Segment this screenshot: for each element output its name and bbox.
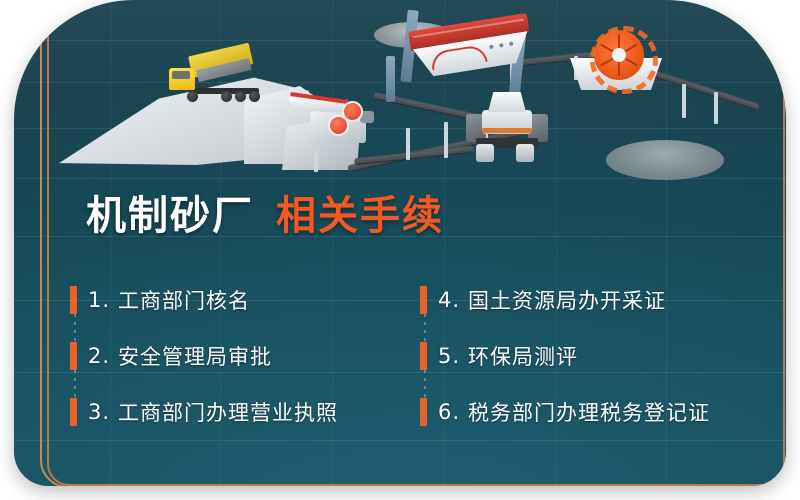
- procedure-column-left: 1. 工商部门核名 2. 安全管理局审批 3. 工商部门办理营业执照: [70, 272, 420, 440]
- jaw-crusher: [304, 95, 376, 153]
- belt-conveyor: [653, 70, 760, 111]
- list-item: 4. 国土资源局办开采证: [420, 272, 770, 328]
- illustration-banner: 机制砂厂 相关手续 1. 工商部门核名 2. 安全管理局审批: [0, 0, 800, 500]
- list-item-label: 国土资源局办开采证: [468, 285, 666, 315]
- page-title: 机制砂厂 相关手续: [86, 196, 444, 236]
- list-item: 1. 工商部门核名: [70, 272, 420, 328]
- wheel-sand-washer: [566, 30, 666, 92]
- list-item: 6. 税务部门办理税务登记证: [420, 384, 770, 440]
- teal-panel: 机制砂厂 相关手续 1. 工商部门核名 2. 安全管理局审批: [14, 0, 786, 486]
- bullet-marker-icon: [420, 398, 427, 426]
- list-item: 3. 工商部门办理营业执照: [70, 384, 420, 440]
- list-item: 2. 安全管理局审批: [70, 328, 420, 384]
- list-item-label: 税务部门办理税务登记证: [468, 397, 710, 427]
- list-item-label: 安全管理局审批: [118, 341, 272, 371]
- title-primary: 机制砂厂: [86, 196, 254, 236]
- list-item-number: 3.: [88, 400, 110, 424]
- dump-truck: [169, 58, 265, 104]
- bullet-marker-icon: [70, 286, 77, 314]
- bullet-marker-icon: [70, 342, 77, 370]
- list-item-number: 4.: [438, 288, 460, 312]
- title-accent: 相关手续: [276, 196, 444, 236]
- list-item-number: 5.: [438, 344, 460, 368]
- procedure-lists: 1. 工商部门核名 2. 安全管理局审批 3. 工商部门办理营业执照: [70, 272, 770, 440]
- list-item-label: 工商部门办理营业执照: [118, 397, 338, 427]
- procedure-column-right: 4. 国土资源局办开采证 5. 环保局测评 6. 税务部门办理税务登记证: [420, 272, 770, 440]
- bullet-marker-icon: [70, 398, 77, 426]
- cone-crusher: [466, 92, 550, 164]
- list-item-number: 6.: [438, 400, 460, 424]
- bullet-marker-icon: [420, 286, 427, 314]
- list-item-label: 工商部门核名: [118, 285, 250, 315]
- list-item-number: 2.: [88, 344, 110, 368]
- list-item-label: 环保局测评: [468, 341, 578, 371]
- bullet-marker-icon: [420, 342, 427, 370]
- gravel-pile: [606, 140, 724, 180]
- list-item: 5. 环保局测评: [420, 328, 770, 384]
- sand-plant-scene: [14, 0, 786, 190]
- list-item-number: 1.: [88, 288, 110, 312]
